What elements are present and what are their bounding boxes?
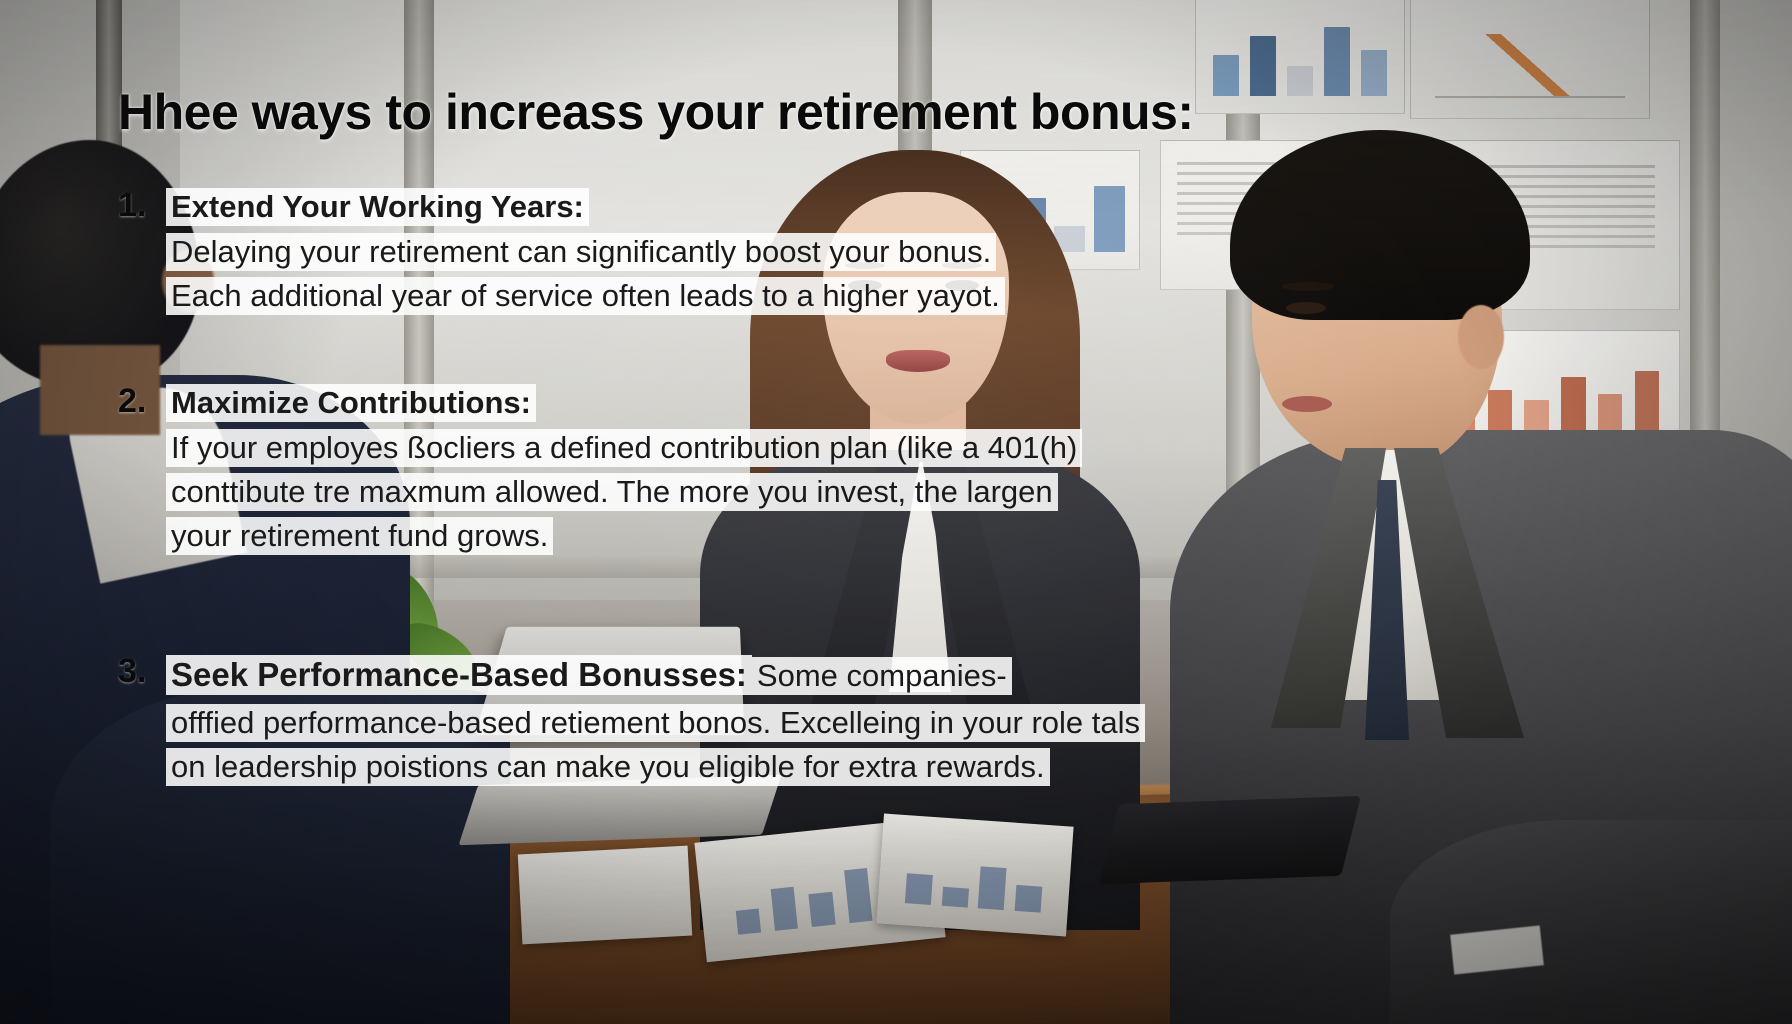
list-item-content: Extend Your Working Years: Delaying your… bbox=[166, 186, 1438, 318]
list-item-title-line: Extend Your Working Years: bbox=[166, 186, 1438, 228]
list-item-body: offfied performance-based retiement bono… bbox=[166, 701, 1478, 789]
body-text-line: If your employes ßocliers a defined cont… bbox=[166, 429, 1082, 467]
list-item-body: Delaying your retirement can significant… bbox=[166, 230, 1438, 318]
body-text-line: your retirement fund grows. bbox=[166, 517, 553, 555]
body-text-line: Delaying your retirement can significant… bbox=[166, 233, 996, 271]
list-item-content: Maximize Contributions: If your employes… bbox=[166, 382, 1438, 558]
list-item-title: Extend Your Working Years: bbox=[166, 188, 589, 226]
list-item-title-line: Maximize Contributions: bbox=[166, 382, 1438, 424]
list-item: 1. Extend Your Working Years: Delaying y… bbox=[118, 186, 1438, 318]
list-item: 2. Maximize Contributions: If your emplo… bbox=[118, 382, 1438, 558]
screenshot-root: Hhee ways to increass your retirement bo… bbox=[0, 0, 1792, 1024]
headline: Hhee ways to increass your retirement bo… bbox=[118, 86, 1518, 139]
list-item-body: If your employes ßocliers a defined cont… bbox=[166, 426, 1438, 558]
list-item: 3. Seek Performance-Based Bonusses:Some … bbox=[118, 652, 1478, 789]
body-text-line: conttibute tre maxmum allowed. The more … bbox=[166, 473, 1058, 511]
list-item-title: Maximize Contributions: bbox=[166, 384, 536, 422]
body-text-line: on leadership poistions can make you eli… bbox=[166, 748, 1050, 786]
list-item-number: 2. bbox=[118, 382, 146, 421]
text-overlay: Hhee ways to increass your retirement bo… bbox=[0, 0, 1792, 1024]
body-text-line: Each additional year of service often le… bbox=[166, 277, 1005, 315]
body-text-line: offfied performance-based retiement bono… bbox=[166, 704, 1145, 742]
list-item-title-trailing: Some companies- bbox=[752, 657, 1012, 695]
list-item-title-line: Seek Performance-Based Bonusses:Some com… bbox=[166, 652, 1478, 699]
list-item-content: Seek Performance-Based Bonusses:Some com… bbox=[166, 652, 1478, 789]
list-item-number: 1. bbox=[118, 186, 146, 225]
list-item-title: Seek Performance-Based Bonusses: bbox=[166, 655, 752, 695]
list-item-number: 3. bbox=[118, 652, 146, 691]
